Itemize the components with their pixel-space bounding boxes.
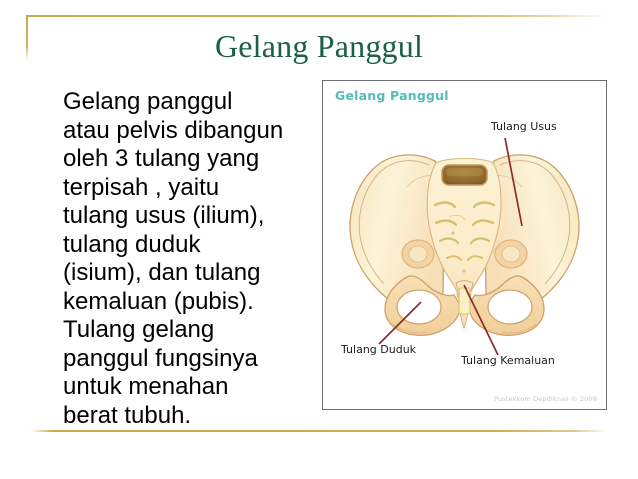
pubic-symphysis xyxy=(459,288,470,314)
obturator-foramen-right xyxy=(488,290,532,324)
decorative-rule-top xyxy=(26,15,606,17)
acetabulum-right-inner xyxy=(502,246,520,262)
label-tulang-kemaluan: Tulang Kemaluan xyxy=(460,354,555,367)
slide-canvas: Gelang Panggul Gelang panggul atau pelvi… xyxy=(0,0,638,479)
figure-credit: Pustekkom Depdiknas © 2008 xyxy=(494,395,597,403)
page-title: Gelang Panggul xyxy=(0,27,638,65)
sacral-dot-left xyxy=(451,231,454,234)
sacral-dot-center xyxy=(462,269,465,272)
pelvis-diagram: Tulang Usus Tulang Duduk Tulang Kemaluan xyxy=(323,81,606,409)
spinal-canal-highlight xyxy=(446,168,483,176)
decorative-rule-bottom xyxy=(30,430,608,432)
body-paragraph: Gelang panggul atau pelvis dibangun oleh… xyxy=(63,88,315,430)
figure-panel: Gelang Panggul xyxy=(322,80,607,410)
acetabulum-left-inner xyxy=(409,246,427,262)
label-tulang-usus: Tulang Usus xyxy=(490,120,557,133)
label-tulang-duduk: Tulang Duduk xyxy=(340,343,417,356)
